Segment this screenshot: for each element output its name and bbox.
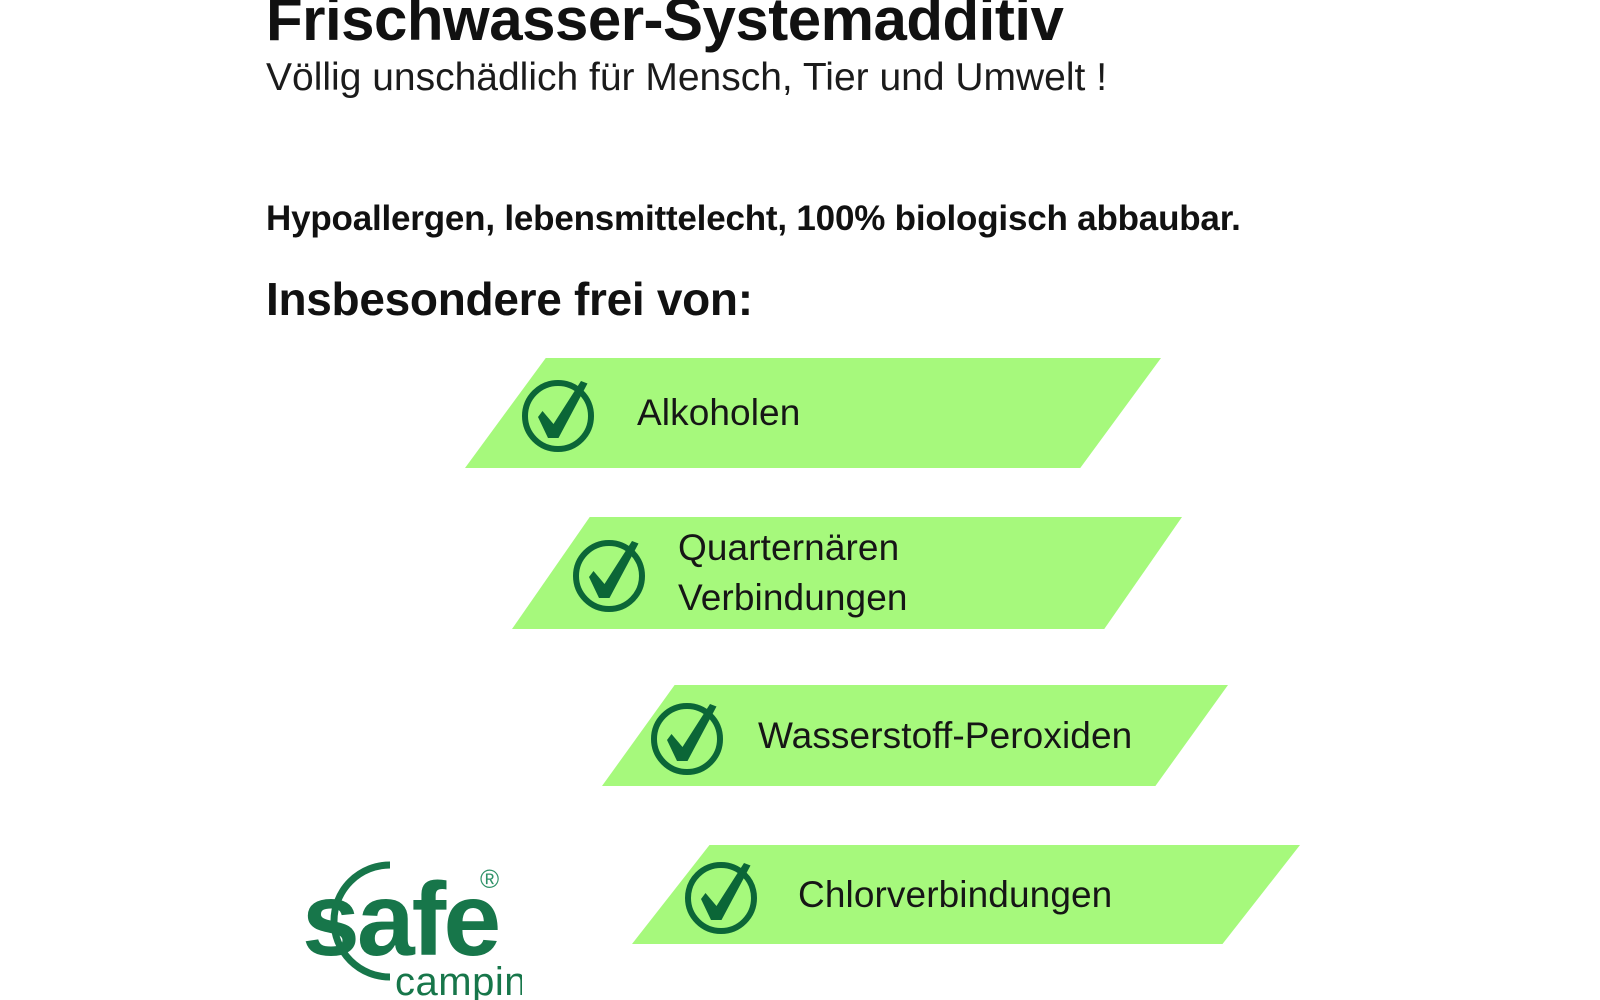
free-of-banner-chlorverbindungen: Chlorverbindungen [632,845,1300,944]
check-circle-icon [517,372,599,454]
free-of-banner-wasserstoff-peroxiden: Wasserstoff-Peroxiden [602,685,1228,786]
free-of-heading: Insbesondere frei von: [266,274,753,325]
banner-content: Wasserstoff-Peroxiden [646,685,1132,786]
free-of-item-label: Quarternären Verbindungen [678,523,908,623]
check-circle-icon [680,854,762,936]
free-of-banner-alkoholen: Alkoholen [465,358,1161,468]
banner-content: Chlorverbindungen [680,845,1112,944]
banner-content: Quarternären Verbindungen [568,517,908,629]
safe-camping-logo: safe ® camping [262,843,522,1000]
page-subtitle: Völlig unschädlich für Mensch, Tier und … [266,57,1107,100]
product-claim: Hypoallergen, lebensmittelecht, 100% bio… [266,200,1241,239]
free-of-item-label: Chlorverbindungen [798,870,1112,920]
logo-tagline: camping [395,960,522,1000]
banner-content: Alkoholen [517,358,800,468]
product-infographic: Frischwasser-Systemadditiv Völlig unschä… [0,0,1600,1000]
free-of-item-label: Wasserstoff-Peroxiden [758,711,1132,761]
logo-trademark-symbol: ® [480,864,499,894]
page-title: Frischwasser-Systemadditiv [266,0,1063,51]
check-circle-icon [568,532,650,614]
free-of-item-label: Alkoholen [637,388,800,438]
check-circle-icon [646,695,728,777]
free-of-banner-quarternaeren-verbindungen: Quarternären Verbindungen [512,517,1182,629]
